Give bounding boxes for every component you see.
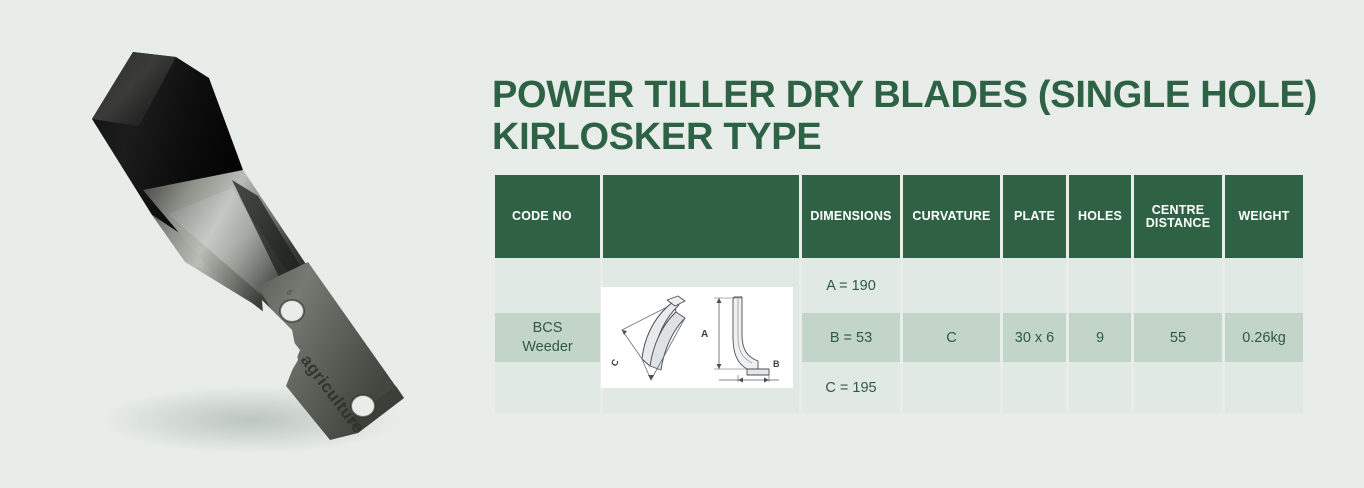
product-photo: agriculture 5 bbox=[0, 0, 470, 488]
cell-dimension: C = 195 bbox=[802, 362, 900, 413]
page-title-line-1: POWER TILLER DRY BLADES (SINGLE HOLE) bbox=[492, 74, 1352, 116]
column-header-diagram bbox=[603, 175, 799, 258]
column-header-centre-distance: CENTRE DISTANCE bbox=[1134, 175, 1222, 258]
cell-dimension: A = 190 bbox=[802, 258, 900, 313]
cell-dimension: B = 53 bbox=[802, 313, 900, 362]
page-title-line-2: KIRLOSKER TYPE bbox=[492, 116, 1352, 158]
column-header-curvature-label: CURVATURE bbox=[912, 209, 990, 223]
cell-code-no bbox=[495, 258, 600, 313]
column-header-curvature: CURVATURE bbox=[903, 175, 1000, 258]
cell-weight bbox=[1225, 362, 1303, 413]
column-header-weight: WEIGHT bbox=[1225, 175, 1303, 258]
cell-holes bbox=[1069, 362, 1131, 413]
drawing-label-a: A bbox=[701, 329, 708, 340]
cell-code-no bbox=[495, 362, 600, 413]
table-header-row: CODE NO DIMENSIONS CURVATURE PLATE HOLES bbox=[495, 175, 1303, 258]
technical-drawing: C A B bbox=[601, 287, 793, 388]
cell-centre-distance bbox=[1134, 258, 1222, 313]
cell-plate bbox=[1003, 362, 1066, 413]
column-header-dimensions-label: DIMENSIONS bbox=[810, 209, 891, 223]
cell-holes: 9 bbox=[1069, 313, 1131, 362]
column-header-dimensions: DIMENSIONS bbox=[802, 175, 900, 258]
cell-weight bbox=[1225, 258, 1303, 313]
cell-curvature: C bbox=[903, 313, 1000, 362]
cell-code-no-line-2: Weeder bbox=[495, 338, 600, 357]
product-info-panel: POWER TILLER DRY BLADES (SINGLE HOLE) KI… bbox=[492, 0, 1364, 488]
column-header-weight-label: WEIGHT bbox=[1238, 209, 1289, 223]
drawing-label-b: B bbox=[773, 359, 780, 369]
cell-centre-distance: 55 bbox=[1134, 313, 1222, 362]
column-header-centre-distance-line-2: DISTANCE bbox=[1138, 217, 1218, 230]
column-header-holes-label: HOLES bbox=[1078, 209, 1122, 223]
column-header-code-no: CODE NO bbox=[495, 175, 600, 258]
column-header-plate-label: PLATE bbox=[1014, 209, 1055, 223]
cell-centre-distance bbox=[1134, 362, 1222, 413]
cell-plate bbox=[1003, 258, 1066, 313]
column-header-plate: PLATE bbox=[1003, 175, 1066, 258]
cell-code-no: BCS Weeder bbox=[495, 313, 600, 362]
cell-plate: 30 x 6 bbox=[1003, 313, 1066, 362]
cell-weight: 0.26kg bbox=[1225, 313, 1303, 362]
cell-holes bbox=[1069, 258, 1131, 313]
page-title: POWER TILLER DRY BLADES (SINGLE HOLE) KI… bbox=[492, 74, 1352, 158]
cell-curvature bbox=[903, 258, 1000, 313]
column-header-centre-distance-line-1: CENTRE bbox=[1138, 204, 1218, 217]
column-header-holes: HOLES bbox=[1069, 175, 1131, 258]
column-header-code-no-label: CODE NO bbox=[512, 209, 572, 223]
cell-curvature bbox=[903, 362, 1000, 413]
cell-code-no-line-1: BCS bbox=[495, 319, 600, 338]
